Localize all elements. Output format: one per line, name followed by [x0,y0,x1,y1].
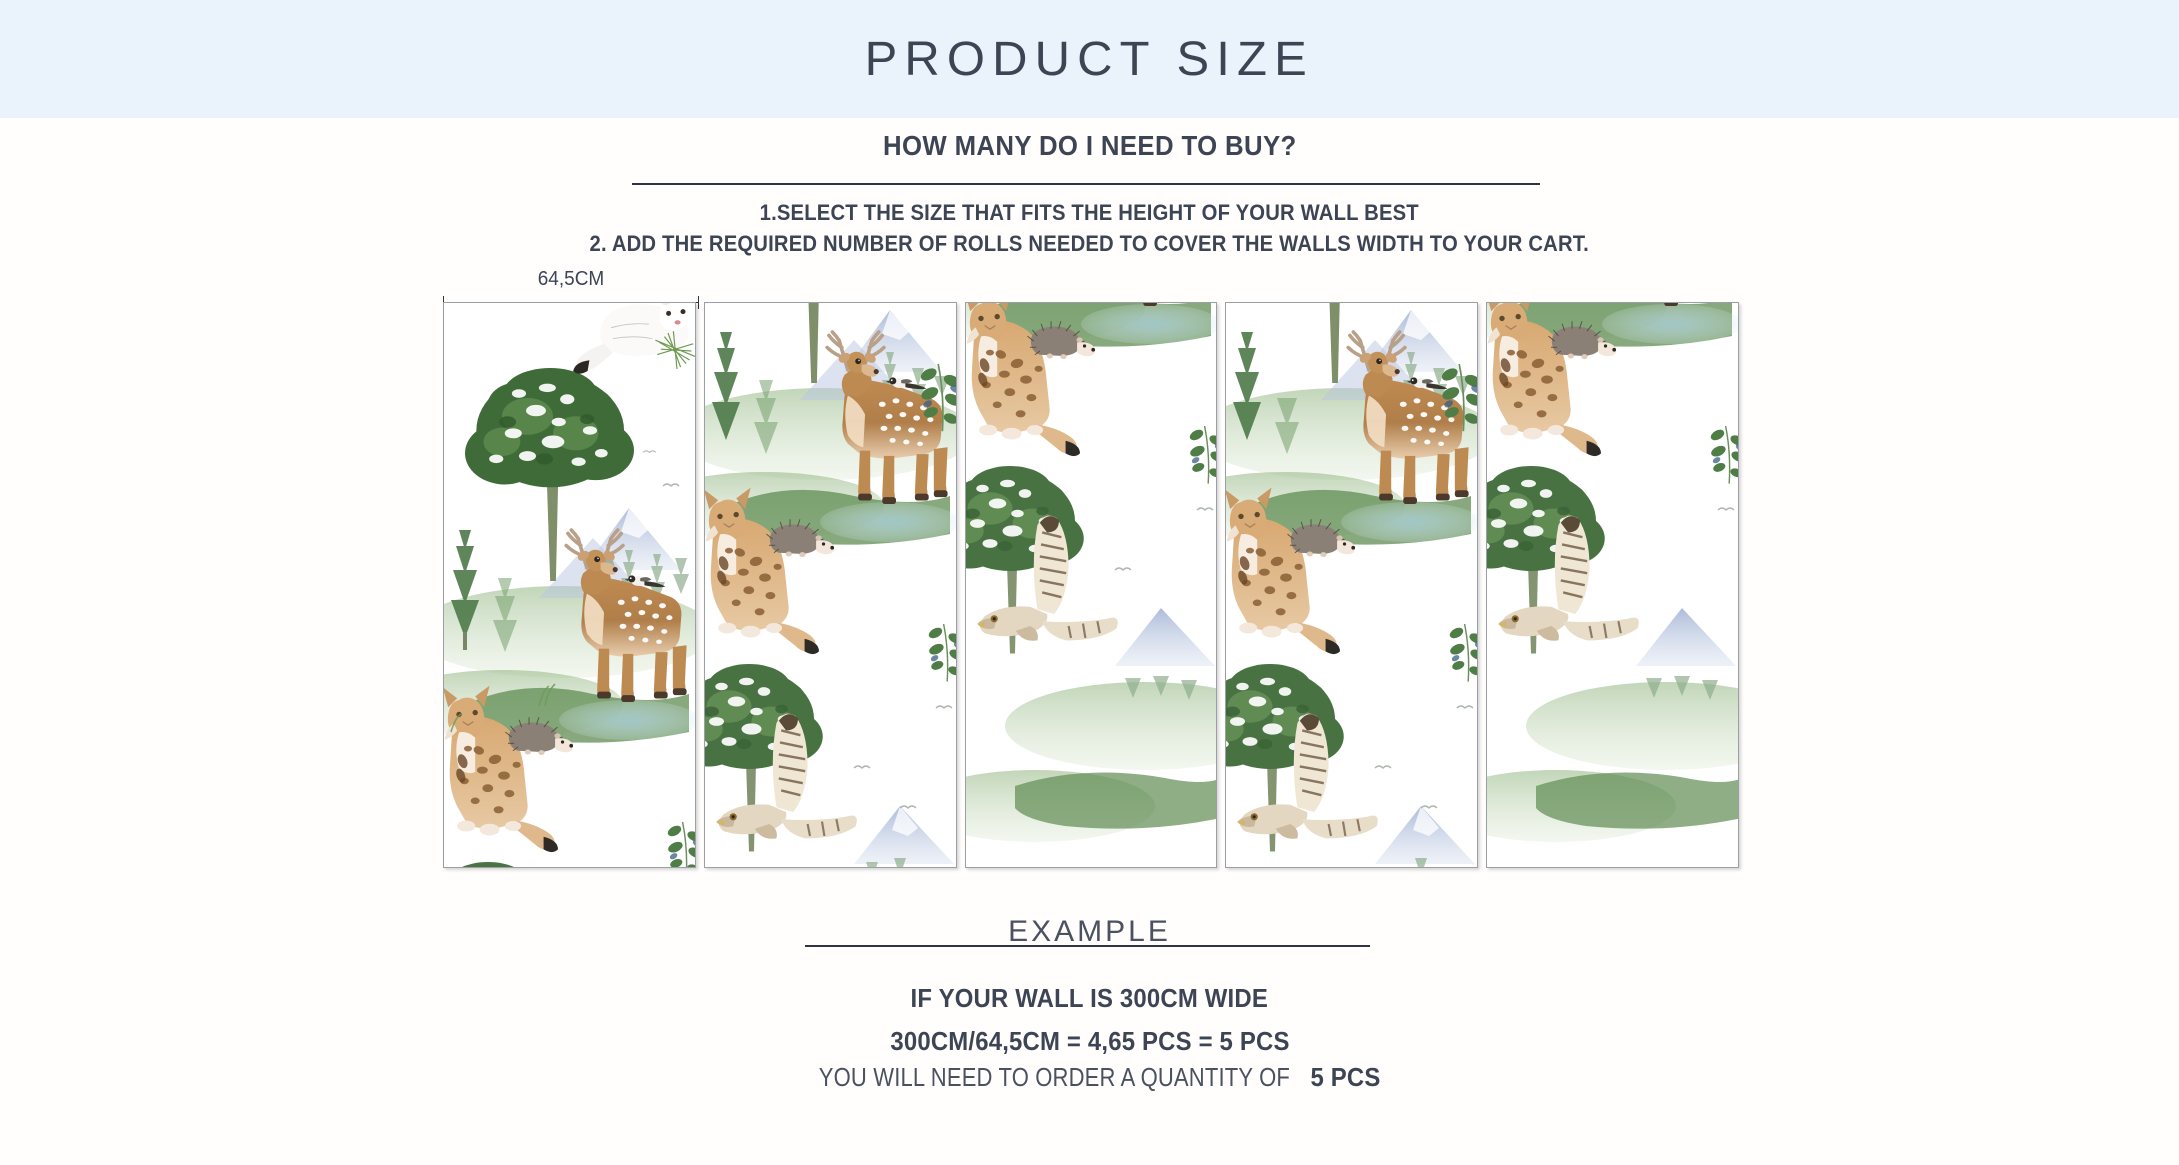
woodland-pattern-artwork [965,302,1218,868]
woodland-pattern-artwork [443,302,696,868]
instruction-line-1: 1.SELECT THE SIZE THAT FITS THE HEIGHT O… [760,197,1419,228]
intro-divider [632,183,1540,185]
product-size-page: PRODUCT SIZE HOW MANY DO I NEED TO BUY? … [0,0,2179,1165]
wallpaper-roll-panel[interactable] [443,302,696,868]
example-line-1: IF YOUR WALL IS 300CM WIDE [911,977,1268,1020]
example-conclusion-quantity: 5 PCS [1311,1062,1381,1092]
page-title: PRODUCT SIZE [865,32,1314,87]
woodland-pattern-artwork [1225,302,1478,868]
wallpaper-roll-panel[interactable] [704,302,957,868]
wallpaper-roll-panel[interactable] [1486,302,1739,868]
dimension-label: 64,5CM [449,268,692,291]
intro-section: HOW MANY DO I NEED TO BUY? [0,130,2179,162]
example-conclusion: YOU WILL NEED TO ORDER A QUANTITY OF 5 P… [0,1062,2179,1093]
wallpaper-roll-panel[interactable] [1225,302,1478,868]
header-band: PRODUCT SIZE [0,0,2179,118]
intro-heading: HOW MANY DO I NEED TO BUY? [883,130,1297,162]
example-section: EXAMPLE [0,915,2179,949]
example-heading: EXAMPLE [1008,915,1171,949]
woodland-pattern-artwork [704,302,957,868]
wallpaper-roll-strip [443,302,1739,868]
example-conclusion-text: YOU WILL NEED TO ORDER A QUANTITY OF 5 P… [798,1062,1380,1093]
wallpaper-roll-panel[interactable] [965,302,1218,868]
instruction-line-2: 2. ADD THE REQUIRED NUMBER OF ROLLS NEED… [590,228,1589,259]
example-divider [805,945,1370,947]
example-line-2: 300CM/64,5CM = 4,65 PCS = 5 PCS [890,1020,1289,1063]
woodland-pattern-artwork [1486,302,1739,868]
example-conclusion-prefix: YOU WILL NEED TO ORDER A QUANTITY OF [819,1062,1290,1093]
intro-instructions: 1.SELECT THE SIZE THAT FITS THE HEIGHT O… [0,197,2179,259]
example-calculation: IF YOUR WALL IS 300CM WIDE 300CM/64,5CM … [0,977,2179,1063]
